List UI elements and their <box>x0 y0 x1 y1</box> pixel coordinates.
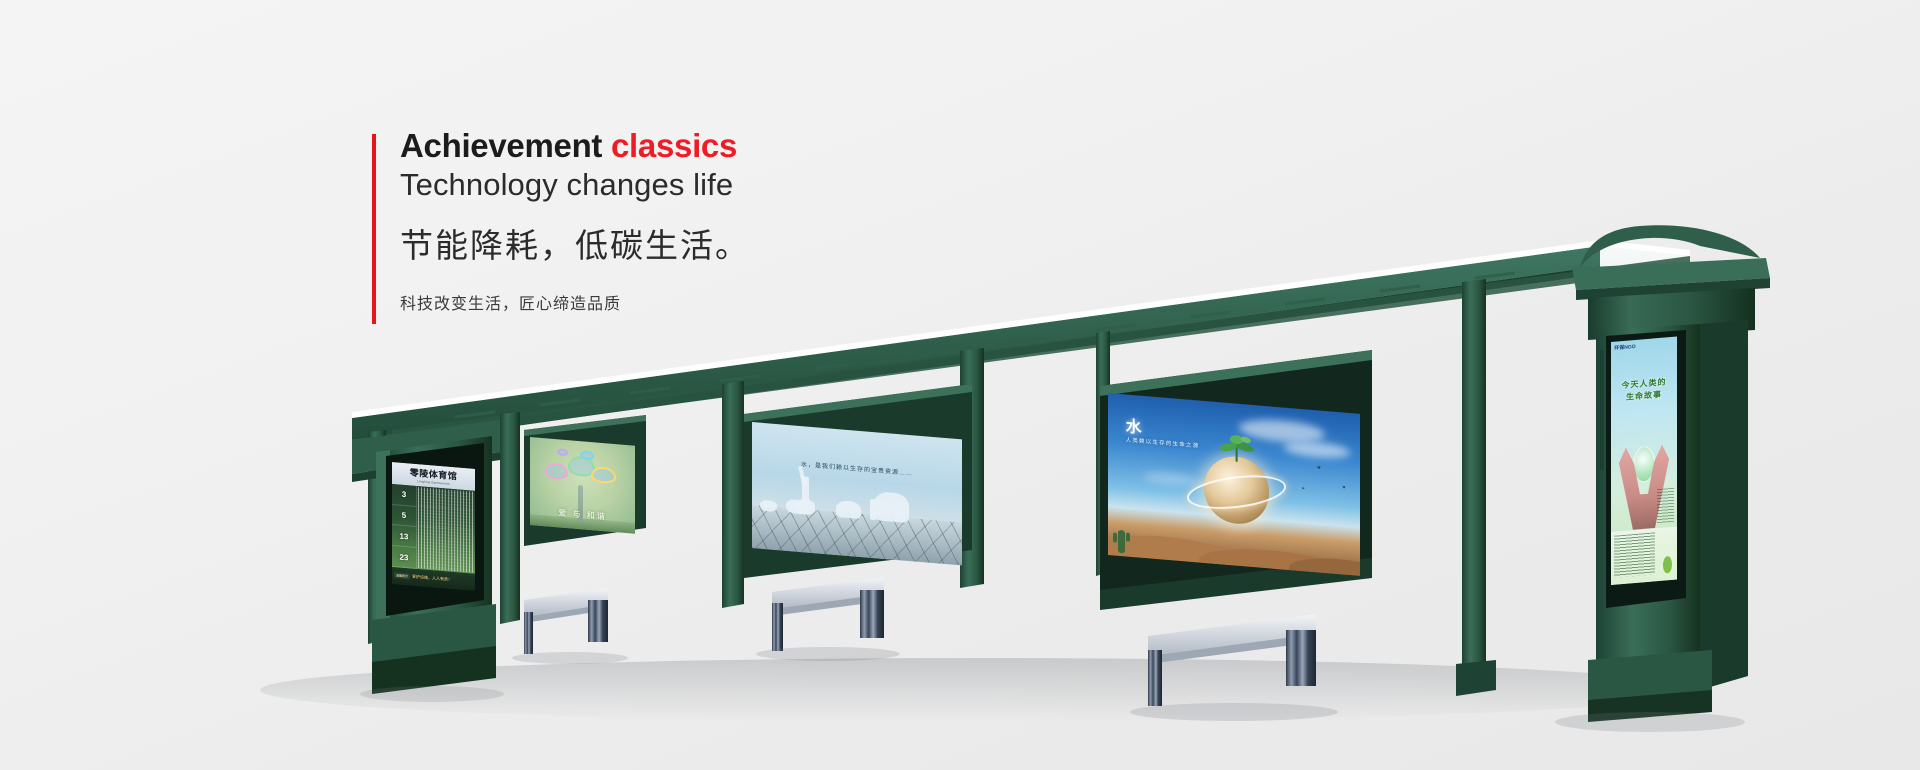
column-2 <box>500 412 520 624</box>
orbit-ring-icon <box>1184 470 1289 513</box>
cactus-icon <box>1118 530 1125 553</box>
schedule-footer-text: 爱护设施，人人有责！ <box>412 574 452 583</box>
heart-icon <box>557 448 568 456</box>
ngo-poster-heading: 今天人类的 生命故事 <box>1611 375 1677 404</box>
pillar-body-right <box>1700 320 1748 690</box>
schedule-route-number[interactable]: 3 <box>392 484 416 507</box>
heart-icon <box>591 466 616 485</box>
panel-ad-love-harmony[interactable]: 爱 与 和谐 <box>530 437 635 534</box>
bench-1 <box>512 588 628 664</box>
elephant-trunk <box>870 499 876 521</box>
ngo-logo: 环保NGO <box>1614 345 1635 352</box>
panel-ad-environmental-ngo[interactable]: 环保NGO 今天人类的 生命故事 NGO <box>1611 337 1677 585</box>
giraffe-neck <box>799 466 807 484</box>
heart-icon <box>580 450 594 460</box>
heart-icon <box>545 463 568 480</box>
bench-2-leg-left <box>772 603 783 651</box>
small-animal-silhouette <box>760 500 777 513</box>
pillar-shadow <box>1555 712 1745 732</box>
column-5-base <box>1456 660 1496 696</box>
panel-schedule-board[interactable]: 零陵体育馆 Lingling Gymnasium 3 5 13 23 温馨提示 … <box>392 462 475 591</box>
bench-3-leg-left <box>1148 650 1162 706</box>
schedule-body: 3 5 13 23 <box>392 484 475 574</box>
bird-icon: ❞ <box>1302 487 1305 493</box>
bench-2-leg-right <box>860 590 884 638</box>
headline-english-primary-text: Achievement <box>400 127 611 164</box>
kiosk-shadow <box>360 686 504 702</box>
column-5 <box>1462 279 1486 690</box>
leaf-icon <box>1663 556 1672 574</box>
ngo-heading-accent: NGO <box>1611 342 1612 343</box>
bench-1-leg-right <box>588 600 608 642</box>
ngo-heading-line2: 生命故事 <box>1626 390 1662 402</box>
headline-block: Achievement classics Technology changes … <box>372 128 750 314</box>
bench-2-shadow <box>756 647 900 661</box>
camel-silhouette <box>836 500 861 520</box>
bench-1-shadow <box>512 652 628 664</box>
headline-english-accent-text: classics <box>611 127 737 164</box>
bench-2 <box>756 577 900 661</box>
ngo-footer-text-block <box>1614 533 1655 578</box>
tree-poster-hearts <box>530 444 635 498</box>
panel-ad-water-conservation[interactable]: 水，是我们赖以生存的宝贵资源…… <box>752 422 962 565</box>
water-poster-title: 水 <box>1126 412 1142 437</box>
schedule-route-number[interactable]: 13 <box>392 525 416 548</box>
animals-poster-caption: 水，是我们赖以生存的宝贵资源…… <box>752 455 962 481</box>
schedule-route-number[interactable]: 23 <box>392 546 416 569</box>
bird-icon: ❞ <box>1317 465 1321 473</box>
schedule-stop-lists <box>417 486 475 574</box>
schedule-route-numbers: 3 5 13 23 <box>392 484 417 569</box>
headline-chinese-sub: 科技改变生活，匠心缔造品质 <box>400 290 750 314</box>
headline-english-secondary: Technology changes life <box>400 166 750 205</box>
ngo-heading-line1: 今天人类的 <box>1622 377 1667 390</box>
cactus-icon <box>1126 532 1130 542</box>
bench-3-shadow <box>1130 703 1338 721</box>
headline-chinese-main: 节能降耗，低碳生活。 <box>400 225 750 268</box>
schedule-footer-tag: 温馨提示 <box>394 573 410 580</box>
elephant-silhouette <box>874 491 910 523</box>
ngo-side-text-block <box>1657 487 1674 522</box>
cactus-icon <box>1113 533 1117 543</box>
cloud-shape <box>1284 440 1350 460</box>
headline-english-primary: Achievement classics <box>400 128 750 164</box>
bench-1-leg-left <box>524 612 533 654</box>
panel-ad-water-source-of-life[interactable]: 水 人类赖以生存的生命之源 ❞ ❞ ❞ <box>1108 393 1360 576</box>
bench-3-leg-right <box>1286 630 1316 686</box>
cloud-shape <box>1143 470 1198 486</box>
bird-icon: ❞ <box>1342 485 1345 492</box>
water-poster-subtitle: 人类赖以生存的生命之源 <box>1126 435 1200 449</box>
poster-canvas: Achievement classics Technology changes … <box>0 0 1920 770</box>
schedule-route-number[interactable]: 5 <box>392 505 416 528</box>
headline-accent-rule <box>372 134 376 324</box>
column-3 <box>722 381 744 608</box>
schedule-stop-row <box>418 548 474 573</box>
sprout-icon <box>1219 433 1254 463</box>
